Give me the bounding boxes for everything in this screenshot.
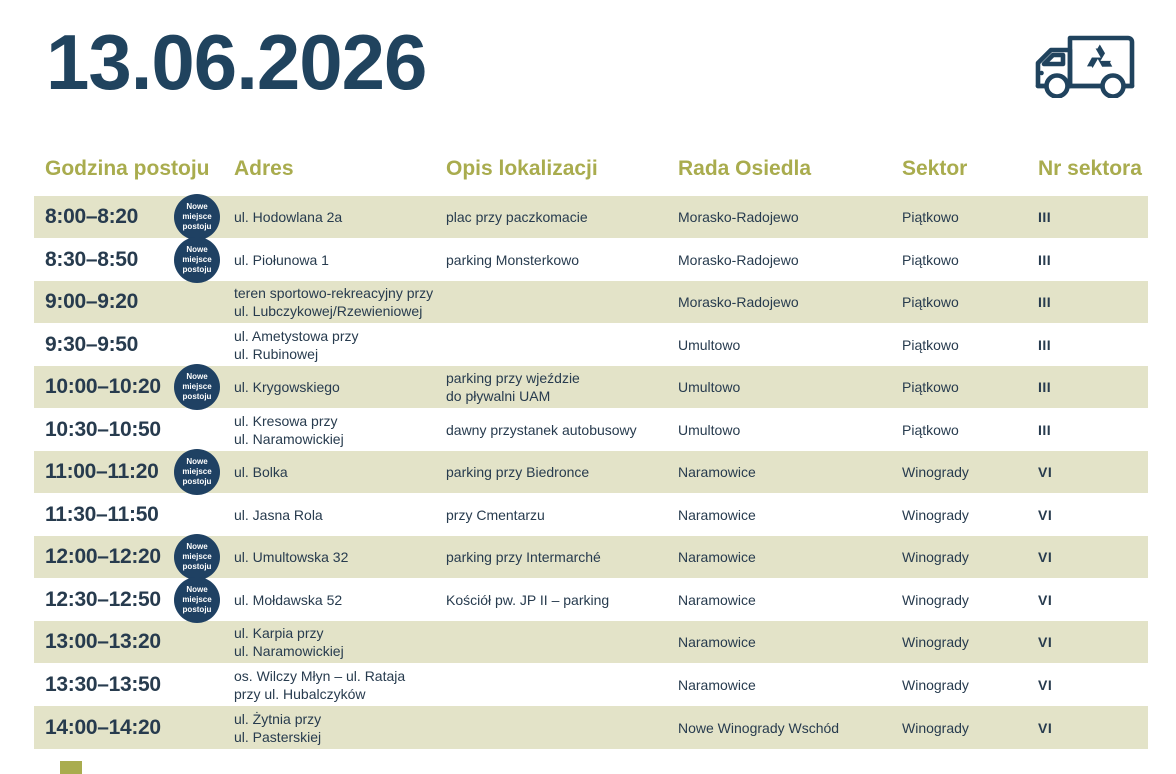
- cell-address: ul. Bolka: [234, 463, 439, 481]
- cell-time: 11:30–11:50: [45, 503, 158, 527]
- cell-sector: Winogrady: [902, 506, 1032, 524]
- cell-sector: Piątkowo: [902, 293, 1032, 311]
- cell-time: 12:30–12:50: [45, 588, 161, 612]
- cell-council: Naramowice: [678, 633, 893, 651]
- new-stop-badge-line: miejsce: [174, 212, 220, 222]
- cell-description: parking przy Intermarché: [446, 548, 671, 566]
- table-row: 12:00–12:20Nowemiejscepostojuul. Umultow…: [34, 536, 1148, 578]
- new-stop-badge: Nowemiejscepostoju: [174, 237, 220, 283]
- cell-address: os. Wilczy Młyn – ul. Rataja przy ul. Hu…: [234, 667, 439, 703]
- cell-sector-number: III: [1038, 378, 1051, 396]
- new-stop-badge-line: Nowe: [174, 372, 220, 382]
- cell-time: 13:30–13:50: [45, 673, 161, 697]
- cell-sector: Piątkowo: [902, 421, 1032, 439]
- cell-council: Nowe Winogrady Wschód: [678, 719, 893, 737]
- table-row: 8:00–8:20Nowemiejscepostojuul. Hodowlana…: [34, 196, 1148, 238]
- cell-address: ul. Karpia przy ul. Naramowickiej: [234, 624, 439, 660]
- cell-time: 9:30–9:50: [45, 333, 138, 357]
- footer-logo-mark: [34, 759, 154, 774]
- cell-council: Morasko-Radojewo: [678, 251, 893, 269]
- cell-address: ul. Piołunowa 1: [234, 251, 439, 269]
- new-stop-badge-line: miejsce: [174, 552, 220, 562]
- cell-sector-number: VI: [1038, 676, 1052, 694]
- cell-sector-number: III: [1038, 336, 1051, 354]
- cell-council: Naramowice: [678, 506, 893, 524]
- cell-council: Naramowice: [678, 676, 893, 694]
- table-row: 12:30–12:50Nowemiejscepostojuul. Mołdaws…: [34, 578, 1148, 621]
- cell-time: 13:00–13:20: [45, 630, 161, 654]
- new-stop-badge-line: postoju: [174, 477, 220, 487]
- table-row: 9:00–9:20teren sportowo-rekreacyjny przy…: [34, 281, 1148, 323]
- new-stop-badge-line: postoju: [174, 605, 220, 615]
- cell-sector: Piątkowo: [902, 208, 1032, 226]
- cell-time: 10:00–10:20: [45, 375, 161, 399]
- cell-time: 12:00–12:20: [45, 545, 161, 569]
- cell-council: Morasko-Radojewo: [678, 293, 893, 311]
- column-header-time: Godzina postoju: [45, 155, 209, 183]
- table-body: 8:00–8:20Nowemiejscepostojuul. Hodowlana…: [34, 196, 1148, 749]
- cell-sector: Piątkowo: [902, 251, 1032, 269]
- schedule-page: 13.06.2026: [0, 0, 1176, 774]
- table-row: 8:30–8:50Nowemiejscepostojuul. Piołunowa…: [34, 238, 1148, 281]
- new-stop-badge-line: Nowe: [174, 245, 220, 255]
- cell-sector-number: VI: [1038, 506, 1052, 524]
- new-stop-badge-line: Nowe: [174, 542, 220, 552]
- cell-sector-number: VI: [1038, 591, 1052, 609]
- page-header: 13.06.2026: [0, 0, 1176, 140]
- cell-address: ul. Kresowa przy ul. Naramowickiej: [234, 412, 439, 448]
- table-row: 11:00–11:20Nowemiejscepostojuul. Bolkapa…: [34, 451, 1148, 493]
- cell-sector: Winogrady: [902, 719, 1032, 737]
- cell-time: 8:00–8:20: [45, 205, 138, 229]
- cell-time: 9:00–9:20: [45, 290, 138, 314]
- cell-address: ul. Żytnia przy ul. Pasterskiej: [234, 710, 439, 746]
- cell-description: plac przy paczkomacie: [446, 208, 671, 226]
- table-row: 9:30–9:50ul. Ametystowa przy ul. Rubinow…: [34, 323, 1148, 366]
- cell-sector: Piątkowo: [902, 378, 1032, 396]
- recycling-truck-icon: [1013, 28, 1138, 98]
- cell-sector-number: III: [1038, 421, 1051, 439]
- new-stop-badge-line: miejsce: [174, 467, 220, 477]
- cell-council: Naramowice: [678, 548, 893, 566]
- cell-council: Naramowice: [678, 463, 893, 481]
- cell-time: 14:00–14:20: [45, 716, 161, 740]
- new-stop-badge-line: Nowe: [174, 457, 220, 467]
- new-stop-badge: Nowemiejscepostoju: [174, 534, 220, 580]
- cell-description: przy Cmentarzu: [446, 506, 671, 524]
- table-row: 11:30–11:50ul. Jasna Rolaprzy CmentarzuN…: [34, 493, 1148, 536]
- cell-time: 8:30–8:50: [45, 248, 138, 272]
- cell-sector-number: VI: [1038, 719, 1052, 737]
- cell-sector: Winogrady: [902, 633, 1032, 651]
- cell-address: ul. Ametystowa przy ul. Rubinowej: [234, 327, 439, 363]
- new-stop-badge-line: Nowe: [174, 202, 220, 212]
- cell-address: ul. Jasna Rola: [234, 506, 439, 524]
- page-title: 13.06.2026: [46, 14, 426, 110]
- new-stop-badge-line: postoju: [174, 265, 220, 275]
- cell-sector: Winogrady: [902, 463, 1032, 481]
- new-stop-badge-line: postoju: [174, 222, 220, 232]
- cell-sector-number: VI: [1038, 548, 1052, 566]
- column-header-sector: Sektor: [902, 155, 967, 183]
- table-row: 13:00–13:20ul. Karpia przy ul. Naramowic…: [34, 621, 1148, 663]
- new-stop-badge: Nowemiejscepostoju: [174, 577, 220, 623]
- new-stop-badge: Nowemiejscepostoju: [174, 194, 220, 240]
- new-stop-badge-line: postoju: [174, 392, 220, 402]
- new-stop-badge-line: postoju: [174, 562, 220, 572]
- table-row: 10:00–10:20Nowemiejscepostojuul. Krygows…: [34, 366, 1148, 408]
- cell-sector: Piątkowo: [902, 336, 1032, 354]
- cell-description: parking przy wjeździe do pływalni UAM: [446, 369, 671, 405]
- cell-council: Morasko-Radojewo: [678, 208, 893, 226]
- new-stop-badge-line: miejsce: [174, 595, 220, 605]
- table-header-row: Godzina postoju Adres Opis lokalizacji R…: [34, 155, 1148, 196]
- cell-sector-number: III: [1038, 251, 1051, 269]
- new-stop-badge: Nowemiejscepostoju: [174, 449, 220, 495]
- table-row: 10:30–10:50ul. Kresowa przy ul. Naramowi…: [34, 408, 1148, 451]
- cell-address: ul. Krygowskiego: [234, 378, 439, 396]
- new-stop-badge: Nowemiejscepostoju: [174, 364, 220, 410]
- cell-description: dawny przystanek autobusowy: [446, 421, 671, 439]
- cell-council: Naramowice: [678, 591, 893, 609]
- cell-address: ul. Hodowlana 2a: [234, 208, 439, 226]
- cell-council: Umultowo: [678, 421, 893, 439]
- column-header-address: Adres: [234, 155, 294, 183]
- cell-sector-number: III: [1038, 208, 1051, 226]
- table-row: 14:00–14:20ul. Żytnia przy ul. Pasterski…: [34, 706, 1148, 749]
- cell-address: ul. Mołdawska 52: [234, 591, 439, 609]
- new-stop-badge-line: miejsce: [174, 255, 220, 265]
- cell-description: Kościół pw. JP II – parking: [446, 591, 671, 609]
- cell-address: ul. Umultowska 32: [234, 548, 439, 566]
- cell-time: 11:00–11:20: [45, 460, 158, 484]
- column-header-sector-number: Nr sektora: [1038, 155, 1142, 183]
- new-stop-badge-line: miejsce: [174, 382, 220, 392]
- cell-address: teren sportowo-rekreacyjny przy ul. Lubc…: [234, 284, 439, 320]
- cell-sector-number: VI: [1038, 633, 1052, 651]
- table-row: 13:30–13:50os. Wilczy Młyn – ul. Rataja …: [34, 663, 1148, 706]
- cell-council: Umultowo: [678, 336, 893, 354]
- collection-schedule-table: Godzina postoju Adres Opis lokalizacji R…: [34, 155, 1148, 749]
- cell-council: Umultowo: [678, 378, 893, 396]
- cell-description: parking przy Biedronce: [446, 463, 671, 481]
- cell-sector: Winogrady: [902, 548, 1032, 566]
- column-header-council: Rada Osiedla: [678, 155, 811, 183]
- column-header-description: Opis lokalizacji: [446, 155, 598, 183]
- cell-description: parking Monsterkowo: [446, 251, 671, 269]
- cell-sector: Winogrady: [902, 591, 1032, 609]
- cell-sector-number: VI: [1038, 463, 1052, 481]
- cell-sector: Winogrady: [902, 676, 1032, 694]
- new-stop-badge-line: Nowe: [174, 585, 220, 595]
- cell-time: 10:30–10:50: [45, 418, 161, 442]
- cell-sector-number: III: [1038, 293, 1051, 311]
